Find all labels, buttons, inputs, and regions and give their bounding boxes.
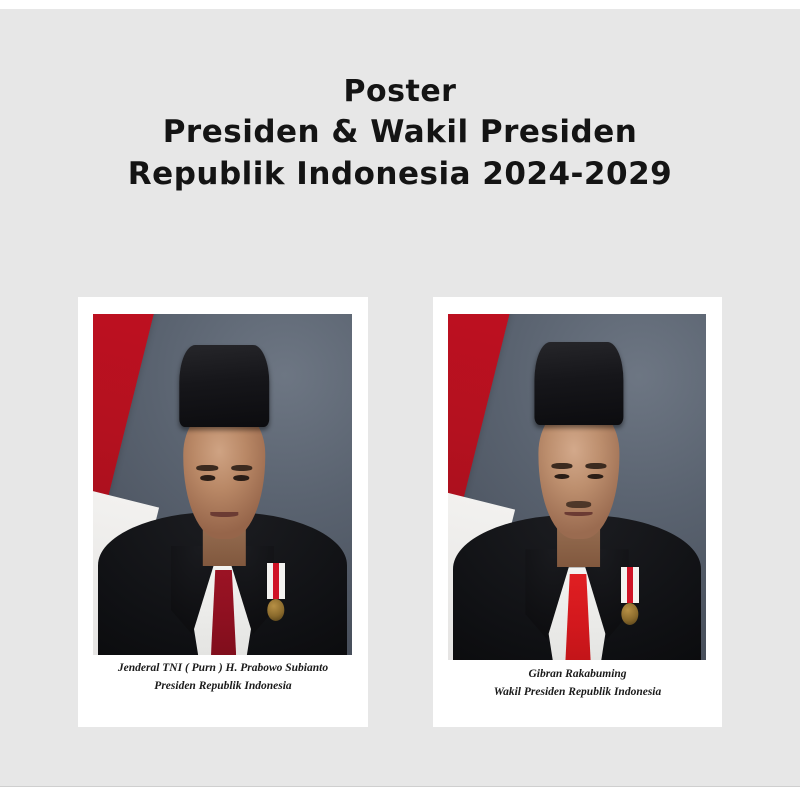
- medal-ribbon: [621, 567, 639, 603]
- eye-left: [200, 475, 216, 480]
- eye-left: [554, 474, 570, 479]
- poster-canvas: Poster Presiden & Wakil Presiden Republi…: [0, 9, 800, 787]
- medal-icon: [621, 567, 639, 626]
- poster-title-block: Poster Presiden & Wakil Presiden Republi…: [0, 73, 800, 195]
- eyebrow-left: [551, 463, 572, 469]
- portrait-caption-president: Jenderal TNI ( Purn ) H. Prabowo Subiant…: [78, 659, 368, 695]
- portrait-card-vice-president: Gibran Rakabuming Wakil Presiden Republi…: [433, 297, 722, 727]
- caption-name: Jenderal TNI ( Purn ) H. Prabowo Subiant…: [78, 659, 368, 677]
- page-title-line-3: Republik Indonesia 2024-2029: [0, 153, 800, 195]
- eyebrow-right: [231, 465, 252, 471]
- caption-name: Gibran Rakabuming: [433, 665, 722, 683]
- eyebrow-right: [585, 463, 606, 469]
- page-title-line-1: Poster: [0, 73, 800, 111]
- figure-head: [532, 366, 625, 539]
- portrait-caption-vice-president: Gibran Rakabuming Wakil Presiden Republi…: [433, 665, 722, 701]
- medal-ribbon: [267, 563, 285, 599]
- mouth: [210, 512, 238, 517]
- medal-disc: [267, 599, 284, 621]
- medal-disc: [621, 603, 638, 625]
- page-title-line-2: Presiden & Wakil Presiden: [0, 111, 800, 153]
- figure-head: [178, 369, 271, 540]
- eyebrow-left: [196, 465, 217, 471]
- medal-icon: [267, 563, 285, 621]
- songkok-cap-icon: [534, 342, 623, 425]
- eye-right: [233, 475, 249, 480]
- mouth: [565, 512, 593, 517]
- caption-role: Wakil Presiden Republik Indonesia: [433, 683, 722, 701]
- portrait-photo-president: [93, 314, 352, 655]
- portrait-photo-vice-president: [448, 314, 706, 660]
- eye-right: [588, 474, 604, 479]
- portrait-card-president: Jenderal TNI ( Purn ) H. Prabowo Subiant…: [78, 297, 368, 727]
- caption-role: Presiden Republik Indonesia: [78, 677, 368, 695]
- songkok-cap-icon: [180, 345, 270, 427]
- moustache: [567, 501, 592, 508]
